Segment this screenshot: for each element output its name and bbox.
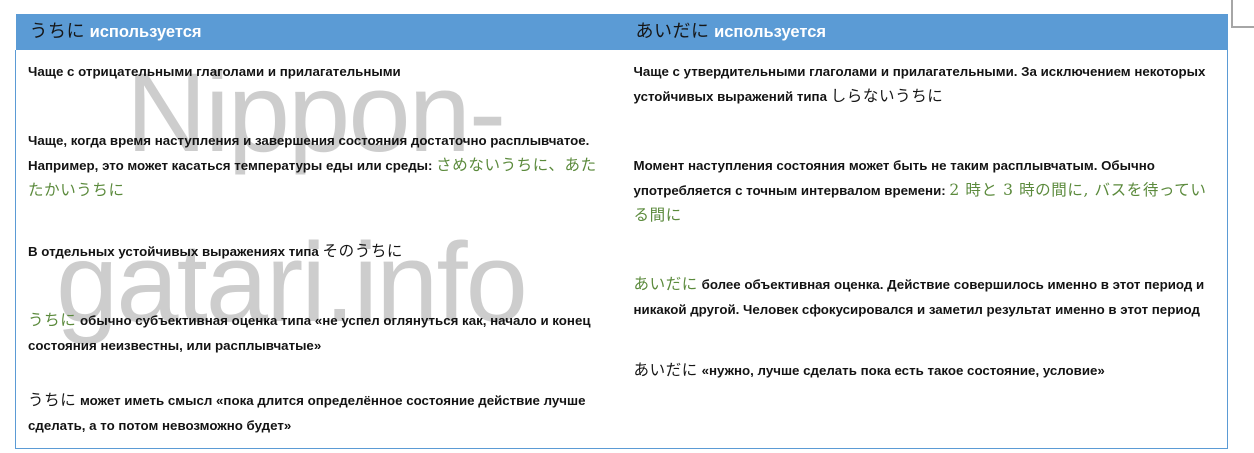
table-body: Чаще с отрицательными глаголами и прилаг… <box>16 50 1228 449</box>
russian-text: Чаще с отрицательными глаголами и прилаг… <box>28 64 401 79</box>
russian-text: «нужно, лучше сделать пока есть такое со… <box>698 363 1105 378</box>
japanese-term-highlighted: あいだに <box>634 275 698 293</box>
paragraph: В отдельных устойчивых выражениях типа そ… <box>28 239 610 264</box>
japanese-term: うちに <box>28 391 76 409</box>
russian-text: В отдельных устойчивых выражениях типа <box>28 244 323 259</box>
paragraph: Чаще, когда время наступления и завершен… <box>28 128 610 203</box>
japanese-term: しらないうちに <box>831 87 944 105</box>
russian-text: может иметь смысл «пока длится определён… <box>28 393 585 433</box>
russian-text: обычно субъективная оценка типа «не успе… <box>28 313 591 353</box>
table-header: うちに используется あいだに используется <box>16 14 1228 50</box>
table-body-row: Чаще с отрицательными глаголами и прилаг… <box>16 50 1228 449</box>
paragraph: あいだに более объективная оценка. Действие … <box>634 272 1216 322</box>
comparison-table: うちに используется あいだに используется Чаще … <box>15 14 1228 449</box>
paragraph: Момент наступления состояния может быть … <box>634 153 1216 228</box>
paragraph: あいだに «нужно, лучше сделать пока есть так… <box>634 358 1216 383</box>
paragraph-list-uchini: Чаще с отрицательными глаголами и прилаг… <box>28 59 610 438</box>
japanese-term-highlighted: うちに <box>28 311 76 329</box>
column-cell-uchini: Чаще с отрицательными глаголами и прилаг… <box>16 50 622 449</box>
column-header-aidani: あいだに используется <box>622 14 1228 50</box>
column-header-aidani-japanese: あいだに <box>636 21 710 42</box>
column-header-aidani-russian: используется <box>714 23 826 41</box>
scroll-corner-artifact <box>1231 0 1254 28</box>
column-header-uchini-russian: используется <box>90 23 202 41</box>
column-header-uchini: うちに используется <box>16 14 622 50</box>
paragraph: Чаще с утвердительными глаголами и прила… <box>634 59 1216 109</box>
column-cell-aidani: Чаще с утвердительными глаголами и прила… <box>622 50 1228 449</box>
japanese-term: そのうちに <box>323 242 404 260</box>
column-header-uchini-japanese: うちに <box>30 21 86 42</box>
paragraph: うちに обычно субъективная оценка типа «не … <box>28 308 610 358</box>
paragraph: Чаще с отрицательными глаголами и прилаг… <box>28 59 610 84</box>
japanese-term: あいだに <box>634 361 698 379</box>
paragraph: うちに может иметь смысл «пока длится опред… <box>28 388 610 438</box>
paragraph-list-aidani: Чаще с утвердительными глаголами и прила… <box>634 59 1216 383</box>
table-header-row: うちに используется あいだに используется <box>16 14 1228 50</box>
russian-text: более объективная оценка. Действие совер… <box>634 277 1205 317</box>
